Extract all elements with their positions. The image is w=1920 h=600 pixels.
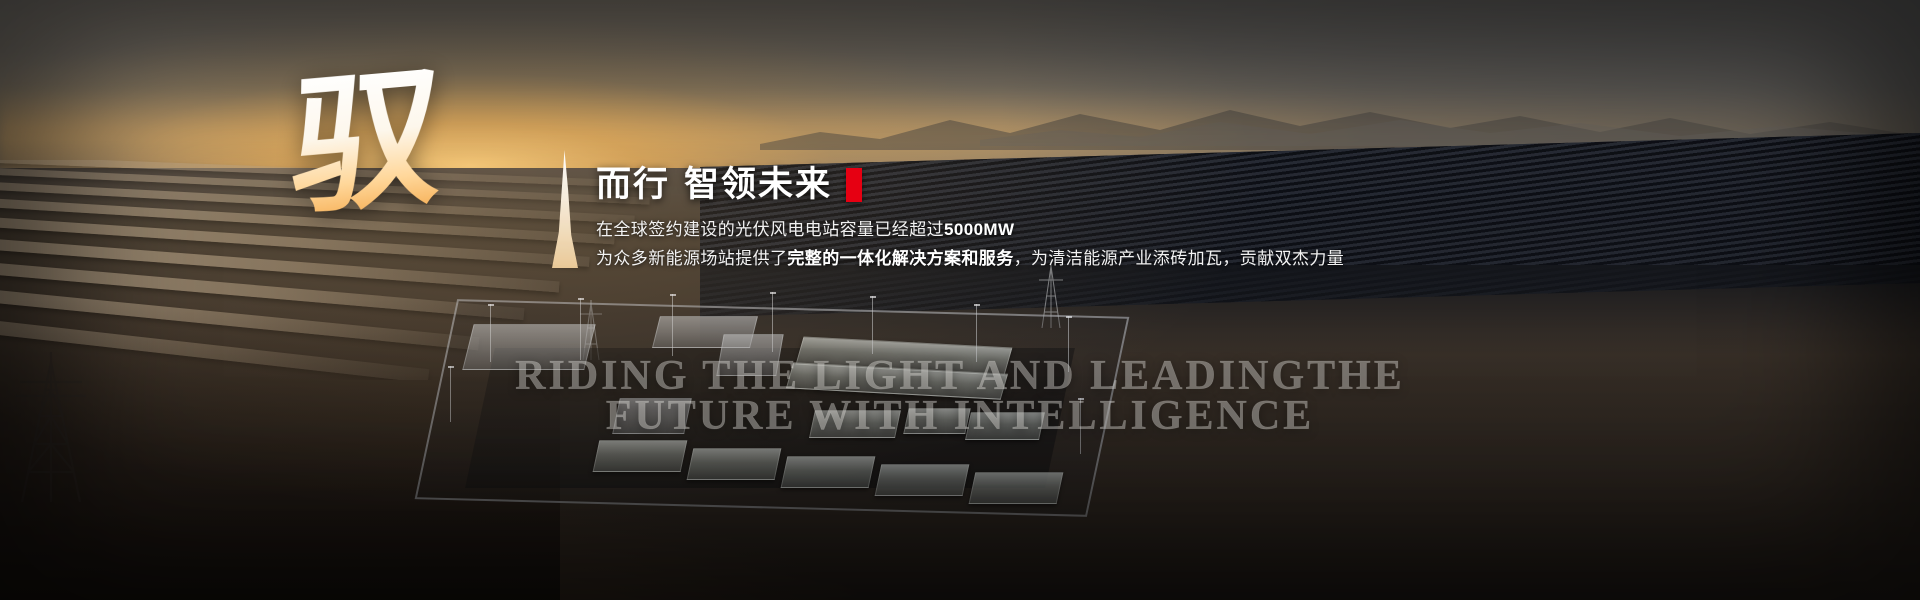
subtitle-2-text-a: 为众多新能源场站提供了 [596,249,787,268]
calligraphy-char-1: 驭 [290,55,428,234]
battery-container [969,472,1064,504]
calligraphy-brandmark: 驭光 [289,48,602,286]
light-pole [580,298,581,360]
battery-container [593,440,688,472]
calligraphy-char-2: 光 [412,7,566,167]
hero-banner: 驭光 而行智领未来 在全球签约建设的光伏风电电站容量已经超过5000MW 为众多… [0,0,1920,600]
subtitle-line-1: 在全球签约建设的光伏风电电站容量已经超过5000MW [596,216,1836,244]
battery-container [781,456,876,488]
light-pole [672,294,673,356]
hero-copy: 而行智领未来 在全球签约建设的光伏风电电站容量已经超过5000MW 为众多新能源… [596,166,1836,273]
subtitle-1-highlight: 5000MW [944,220,1014,239]
page-title: 而行智领未来 [596,166,832,205]
light-pole [872,296,873,354]
title-part-2: 智领未来 [684,165,832,204]
red-accent-block [846,168,862,202]
battery-container [687,448,782,480]
light-pole [772,292,773,352]
english-tagline-line-2: FUTURE WITH INTELLIGENCE [0,392,1920,440]
subtitle-1-text: 在全球签约建设的光伏风电电站容量已经超过 [596,220,944,239]
title-part-1: 而行 [596,165,670,204]
subtitle-line-2: 为众多新能源场站提供了完整的一体化解决方案和服务，为清洁能源产业添砖加瓦，贡献双… [596,245,1836,273]
subtitle-2-highlight: 完整的一体化解决方案和服务 [787,249,1013,268]
battery-container [875,464,970,496]
title-row: 而行智领未来 [596,166,1836,205]
subtitle-2-text-b: ，为清洁能源产业添砖加瓦，贡献双杰力量 [1014,249,1345,268]
background-photo [0,0,1920,600]
